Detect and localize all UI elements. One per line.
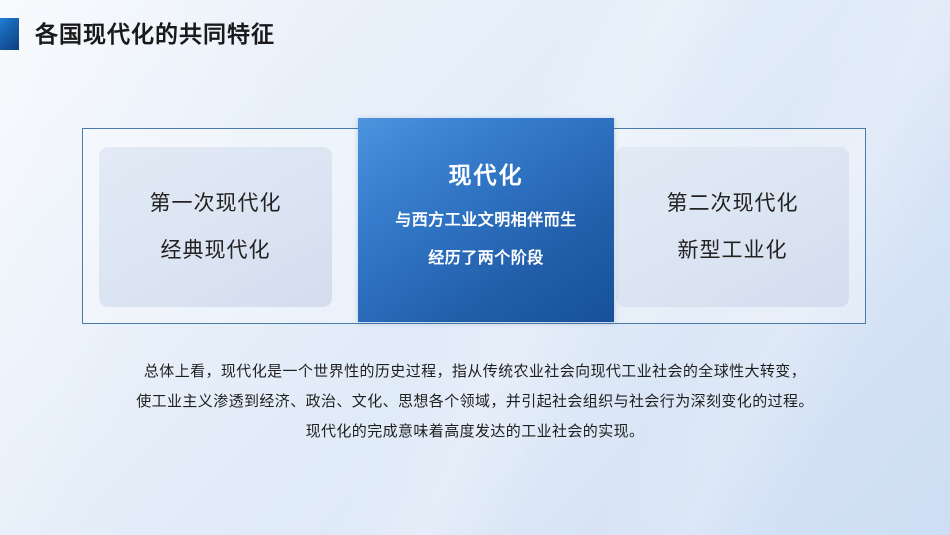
caption-line-1: 总体上看，现代化是一个世界性的历史过程，指从传统农业社会向现代工业社会的全球性大… (0, 357, 950, 387)
stage-card-second-modernization[interactable]: 第二次现代化 新型工业化 (616, 147, 849, 307)
page-title: 各国现代化的共同特征 (35, 23, 275, 46)
title-accent-bar (0, 18, 19, 50)
stage-card-first-subtitle: 经典现代化 (161, 240, 271, 261)
caption-line-3: 现代化的完成意味着高度发达的工业社会的实现。 (0, 417, 950, 447)
stage-card-first-modernization[interactable]: 第一次现代化 经典现代化 (99, 147, 332, 307)
stage-card-second-subtitle: 新型工业化 (678, 240, 788, 261)
center-highlight-panel[interactable]: 现代化 与西方工业文明相伴而生 经历了两个阶段 (358, 118, 614, 322)
center-panel-subtitle-1: 与西方工业文明相伴而生 (395, 213, 577, 229)
caption-paragraph: 总体上看，现代化是一个世界性的历史过程，指从传统农业社会向现代工业社会的全球性大… (0, 357, 950, 447)
stage-card-first-title: 第一次现代化 (150, 193, 282, 214)
stage-card-second-title: 第二次现代化 (667, 193, 799, 214)
slide-header: 各国现代化的共同特征 (0, 18, 275, 50)
caption-line-2: 使工业主义渗透到经济、政治、文化、思想各个领域，并引起社会组织与社会行为深刻变化… (0, 387, 950, 417)
center-panel-subtitle-2: 经历了两个阶段 (428, 251, 544, 267)
center-panel-headline: 现代化 (449, 164, 524, 187)
